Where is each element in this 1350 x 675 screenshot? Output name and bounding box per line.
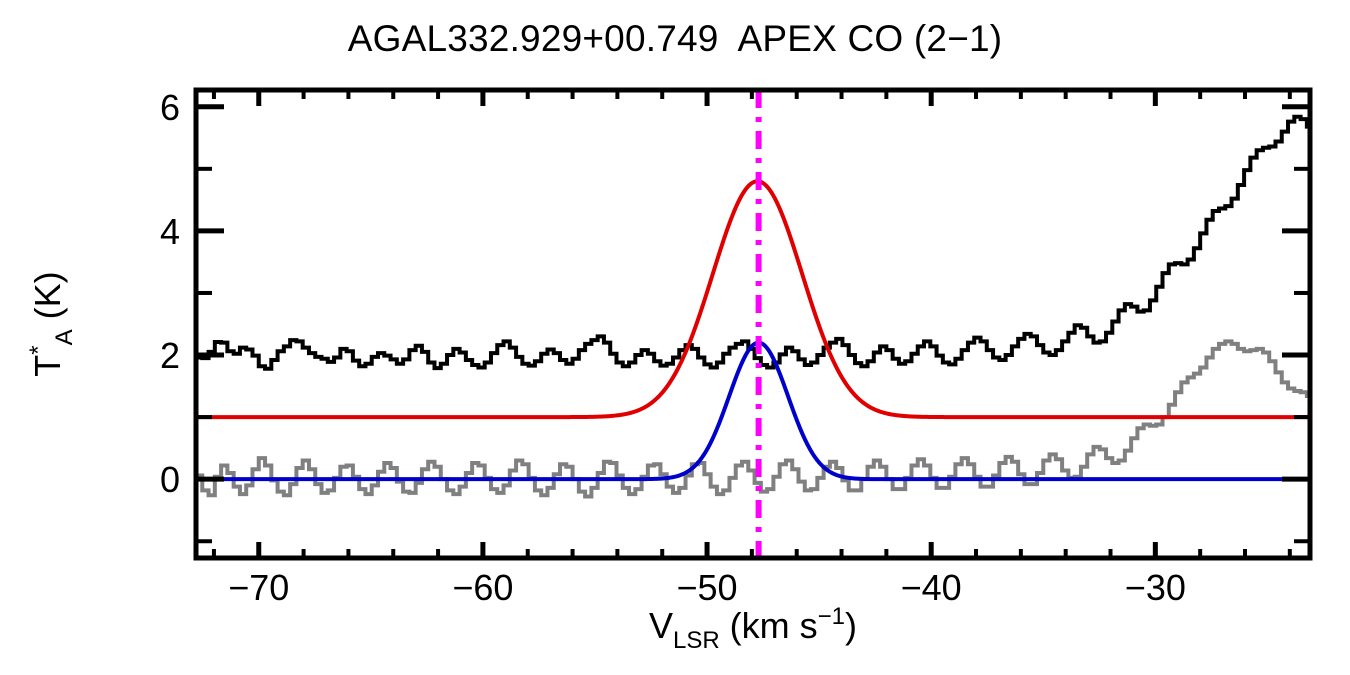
y-tick-label: 6 bbox=[160, 87, 180, 128]
y-tick-label: 0 bbox=[160, 459, 180, 500]
x-tick-label: −50 bbox=[677, 567, 738, 608]
x-tick-label: −70 bbox=[228, 567, 289, 608]
x-tick-label: −30 bbox=[1125, 567, 1186, 608]
x-tick-label: −60 bbox=[452, 567, 513, 608]
spectrum-figure: AGAL332.929+00.749 APEX CO (2−1) −70−60−… bbox=[0, 0, 1350, 675]
y-tick-label: 2 bbox=[160, 335, 180, 376]
y-axis-title: T*A (K) bbox=[25, 271, 78, 376]
spectrum-chart: −70−60−50−40−300246 VLSR (km s−1) T*A (K… bbox=[0, 0, 1350, 675]
y-tick-label: 4 bbox=[160, 211, 180, 252]
x-tick-label: −40 bbox=[901, 567, 962, 608]
x-axis-title: VLSR (km s−1) bbox=[649, 603, 857, 654]
